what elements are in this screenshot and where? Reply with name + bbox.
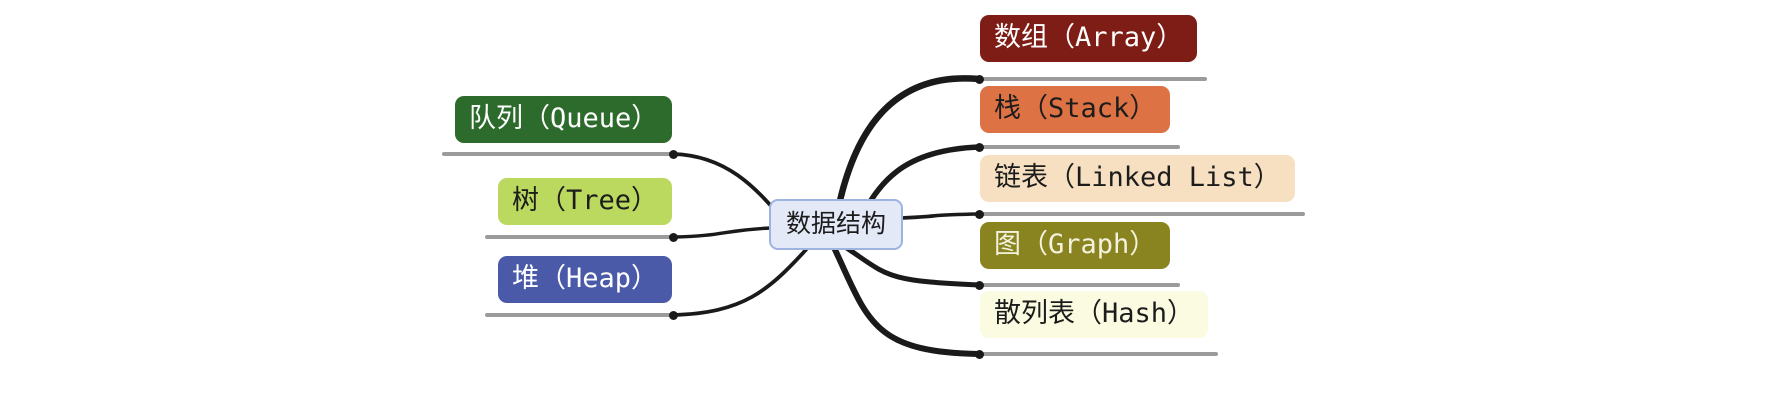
center-node-data-structure[interactable]: 数据结构 bbox=[769, 199, 903, 250]
branch-node-label: 散列表（Hash） bbox=[994, 300, 1194, 327]
branch-connector bbox=[834, 248, 979, 355]
branch-node-label: 栈（Stack） bbox=[994, 95, 1156, 122]
connection-dot-right-3 bbox=[975, 281, 984, 290]
branch-underline-right-2 bbox=[977, 212, 1305, 216]
connection-dot-right-1 bbox=[975, 143, 984, 152]
branch-node-label: 数组（Array） bbox=[994, 24, 1183, 51]
connection-dot-right-0 bbox=[975, 75, 984, 84]
branch-underline-right-4 bbox=[977, 352, 1218, 356]
branch-underline-right-3 bbox=[977, 283, 1180, 287]
branch-node-left-0[interactable]: 队列（Queue） bbox=[455, 96, 672, 143]
branch-node-label: 队列（Queue） bbox=[469, 105, 658, 132]
connection-dot-left-0 bbox=[669, 150, 678, 159]
branch-connector bbox=[846, 248, 979, 286]
branch-underline-left-0 bbox=[442, 152, 675, 156]
branch-node-right-2[interactable]: 链表（Linked List） bbox=[980, 155, 1295, 202]
branch-node-left-1[interactable]: 树（Tree） bbox=[498, 178, 672, 225]
branch-connector bbox=[673, 228, 771, 237]
branch-node-right-1[interactable]: 栈（Stack） bbox=[980, 86, 1170, 133]
connection-dot-left-1 bbox=[669, 233, 678, 242]
branch-node-right-4[interactable]: 散列表（Hash） bbox=[980, 291, 1208, 338]
connection-dot-right-2 bbox=[975, 210, 984, 219]
branch-node-left-2[interactable]: 堆（Heap） bbox=[498, 256, 672, 303]
branch-underline-left-1 bbox=[485, 235, 675, 239]
branch-underline-left-2 bbox=[485, 313, 675, 317]
branch-node-label: 树（Tree） bbox=[512, 187, 658, 214]
branch-node-label: 图（Graph） bbox=[994, 231, 1156, 258]
branch-connector bbox=[901, 214, 979, 218]
connection-dot-right-4 bbox=[975, 350, 984, 359]
branch-node-label: 链表（Linked List） bbox=[994, 164, 1281, 191]
branch-node-right-3[interactable]: 图（Graph） bbox=[980, 222, 1170, 269]
branch-underline-right-1 bbox=[977, 145, 1180, 149]
branch-node-label: 堆（Heap） bbox=[512, 265, 658, 292]
branch-underline-right-0 bbox=[977, 77, 1207, 81]
connection-dot-left-2 bbox=[669, 311, 678, 320]
mind-map-canvas: 数据结构 数组（Array）栈（Stack）链表（Linked List）图（G… bbox=[0, 0, 1792, 404]
branch-connector bbox=[673, 248, 808, 316]
branch-node-right-0[interactable]: 数组（Array） bbox=[980, 15, 1197, 62]
